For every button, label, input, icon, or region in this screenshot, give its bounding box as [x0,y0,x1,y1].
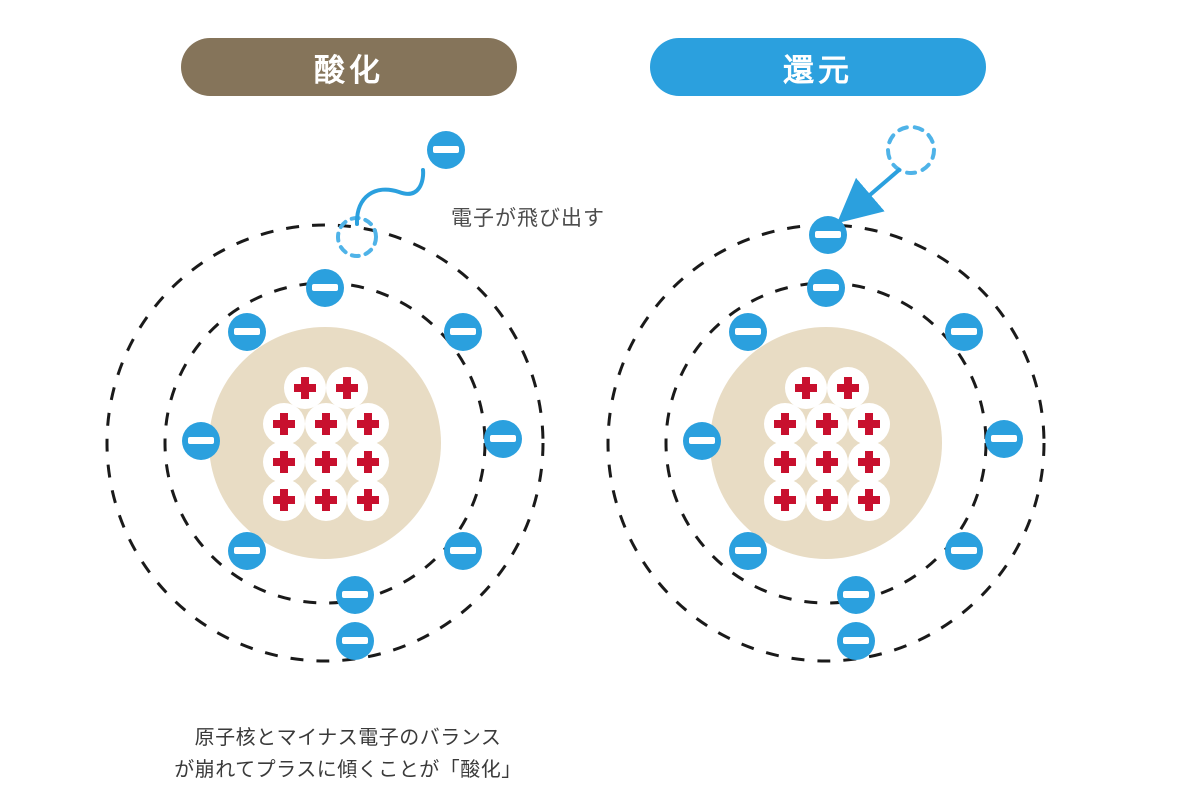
reduction-caption-line1: 逆に電子を付加させて原子核が [1172,722,1200,754]
electron [945,313,983,351]
proton [785,367,827,409]
proton [263,479,305,521]
electron [484,420,522,458]
proton [347,441,389,483]
proton [806,479,848,521]
proton [827,367,869,409]
electron [336,622,374,660]
oxidation-caption-line1: 原子核とマイナス電子のバランス [88,722,608,754]
proton [848,441,890,483]
free-electron [427,131,465,169]
oxidation-atom-graphic [0,0,600,800]
electron [985,420,1023,458]
electron [729,313,767,351]
proton [848,403,890,445]
electron [837,622,875,660]
oxidation-panel: 電子が飛び出す 原子核とマイナス電子のバランス が崩れてプラスに傾くことが「酸化… [0,0,600,800]
electron [228,532,266,570]
oxidation-atom [0,0,600,800]
proton [347,403,389,445]
electron [729,532,767,570]
electron-attach-arrow [843,170,899,218]
oxidation-annotation-label: 電子が飛び出す [451,202,605,232]
proton [305,479,347,521]
proton [263,441,305,483]
added-electron [809,216,847,254]
proton [326,367,368,409]
incoming-electron-source-icon [888,127,934,173]
proton [848,479,890,521]
oxidation-caption: 原子核とマイナス電子のバランス が崩れてプラスに傾くことが「酸化」 [88,722,608,786]
proton [806,403,848,445]
proton [764,479,806,521]
proton [806,441,848,483]
diagram-canvas: 酸化 還元 [0,0,1200,800]
proton [263,403,305,445]
electron [807,269,845,307]
reduction-caption: 逆に電子を付加させて原子核が マイナス電子を得れば「還元」 [1172,722,1200,786]
reduction-atom [600,0,1200,800]
reduction-atom-graphic [600,0,1200,800]
electron [228,313,266,351]
proton [284,367,326,409]
oxidation-caption-line2: が崩れてプラスに傾くことが「酸化」 [88,754,608,786]
proton [764,403,806,445]
electron [683,422,721,460]
electron [306,269,344,307]
reduction-panel: 電子が付加される 逆に電子を付加させて原子核が マイナス電子を得れば「還元」 [600,0,1200,800]
reduction-caption-line2: マイナス電子を得れば「還元」 [1172,754,1200,786]
proton [347,479,389,521]
electron [837,576,875,614]
electron-escape-path [357,170,423,224]
proton [764,441,806,483]
proton [305,441,347,483]
electron [336,576,374,614]
electron [182,422,220,460]
electron [945,532,983,570]
electron [444,313,482,351]
electron [444,532,482,570]
proton [305,403,347,445]
